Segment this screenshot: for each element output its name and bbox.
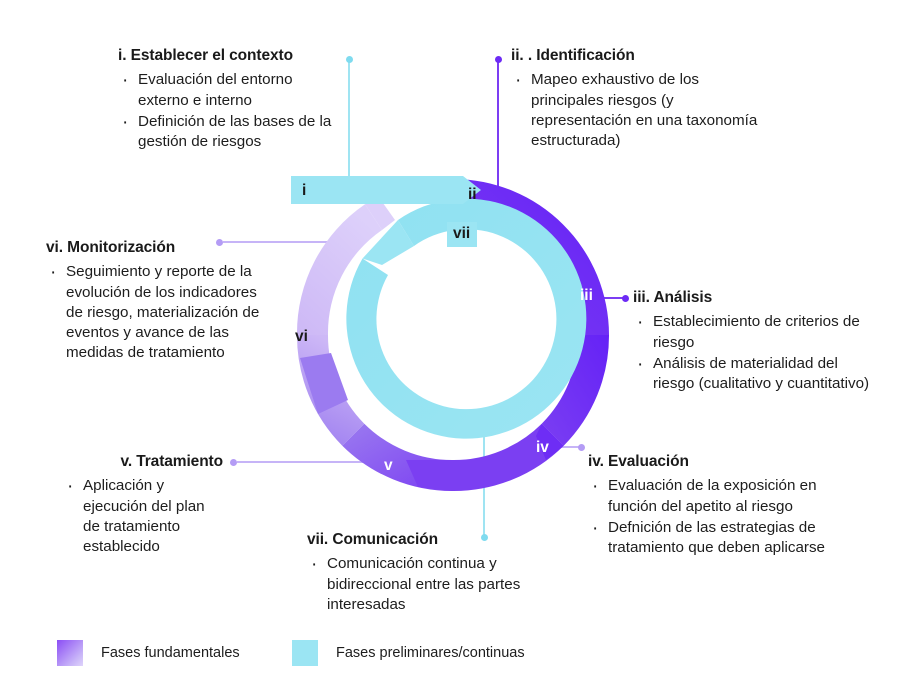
phase-title-iv: iv. Evaluación bbox=[588, 452, 838, 471]
segment-label-iii: iii bbox=[580, 288, 593, 304]
segment-label-vii: vii bbox=[447, 222, 477, 247]
phase-title-ii: ii. . Identificación bbox=[511, 46, 761, 65]
phase-title-vi: vi. Monitorización bbox=[46, 238, 271, 257]
phase-block-v: v. Tratamiento Aplicación y ejecución de… bbox=[48, 452, 223, 558]
phase-i-arrow-bar: i bbox=[291, 176, 481, 204]
phase-title-v: v. Tratamiento bbox=[48, 452, 223, 471]
legend-swatch-gradient-purple bbox=[57, 640, 83, 666]
connector-dot bbox=[346, 56, 353, 63]
phase-block-vi: vi. Monitorización Seguimiento y reporte… bbox=[46, 238, 271, 364]
phase-bullets-vi: Seguimiento y reporte de la evolución de… bbox=[46, 262, 271, 363]
segment-label-vii-text: vii bbox=[453, 225, 470, 242]
segment-label-i: i bbox=[302, 182, 306, 200]
phase-block-iv: iv. Evaluación Evaluación de la exposici… bbox=[588, 452, 838, 559]
segment-label-iv: iv bbox=[536, 440, 549, 456]
bullet: Evaluación de la exposición en función d… bbox=[588, 476, 838, 516]
phase-bullets-ii: Mapeo exhaustivo de los principales ries… bbox=[511, 70, 761, 151]
segment-v-tip bbox=[406, 460, 453, 491]
connector-dot bbox=[495, 56, 502, 63]
bullet: Establecimiento de criterios de riesgo bbox=[633, 312, 878, 352]
phase-bullets-iii: Establecimiento de criterios de riesgo A… bbox=[633, 312, 878, 394]
phase-block-vii: vii. Comunicación Comunicación continua … bbox=[307, 530, 542, 616]
segment-label-ii: ii bbox=[468, 187, 477, 203]
bullet: Análisis de materialidad del riesgo (cua… bbox=[633, 354, 878, 394]
phase-block-i: i. Establecer el contexto Evaluación del… bbox=[118, 46, 343, 153]
bullet: Aplicación y ejecución del plan de trata… bbox=[63, 476, 223, 557]
connector-dot bbox=[230, 459, 237, 466]
phase-bullets-v: Aplicación y ejecución del plan de trata… bbox=[63, 476, 223, 557]
phase-bullets-vii: Comunicación continua y bidireccional en… bbox=[307, 554, 542, 615]
legend-item-preliminary: Fases preliminares/continuas bbox=[292, 640, 525, 666]
phase-title-iii: iii. Análisis bbox=[633, 288, 878, 307]
phase-block-iii: iii. Análisis Establecimiento de criteri… bbox=[633, 288, 878, 395]
phase-bullets-i: Evaluación del entorno externo e interno… bbox=[118, 70, 343, 152]
bullet: Evaluación del entorno externo e interno bbox=[118, 70, 343, 110]
segment-label-vi: vi bbox=[295, 329, 308, 345]
bullet: Seguimiento y reporte de la evolución de… bbox=[46, 262, 271, 363]
legend-label: Fases fundamentales bbox=[101, 645, 240, 661]
risk-management-cycle-diagram: i ii iii iv v vi vii i. Establecer el co… bbox=[0, 0, 899, 697]
legend-swatch-cyan bbox=[292, 640, 318, 666]
phase-bullets-iv: Evaluación de la exposición en función d… bbox=[588, 476, 838, 558]
bullet: Comunicación continua y bidireccional en… bbox=[307, 554, 542, 615]
bullet: Definición de las bases de la gestión de… bbox=[118, 112, 343, 152]
phase-title-i: i. Establecer el contexto bbox=[118, 46, 343, 65]
cycle-ring-graphic bbox=[278, 160, 628, 510]
phase-block-ii: ii. . Identificación Mapeo exhaustivo de… bbox=[511, 46, 761, 152]
legend-label: Fases preliminares/continuas bbox=[336, 645, 525, 661]
legend-item-fundamental: Fases fundamentales bbox=[57, 640, 240, 666]
phase-title-vii: vii. Comunicación bbox=[307, 530, 542, 549]
bullet: Mapeo exhaustivo de los principales ries… bbox=[511, 70, 761, 151]
segment-label-v: v bbox=[384, 458, 393, 474]
bullet: Defnición de las estrategias de tratamie… bbox=[588, 518, 838, 558]
